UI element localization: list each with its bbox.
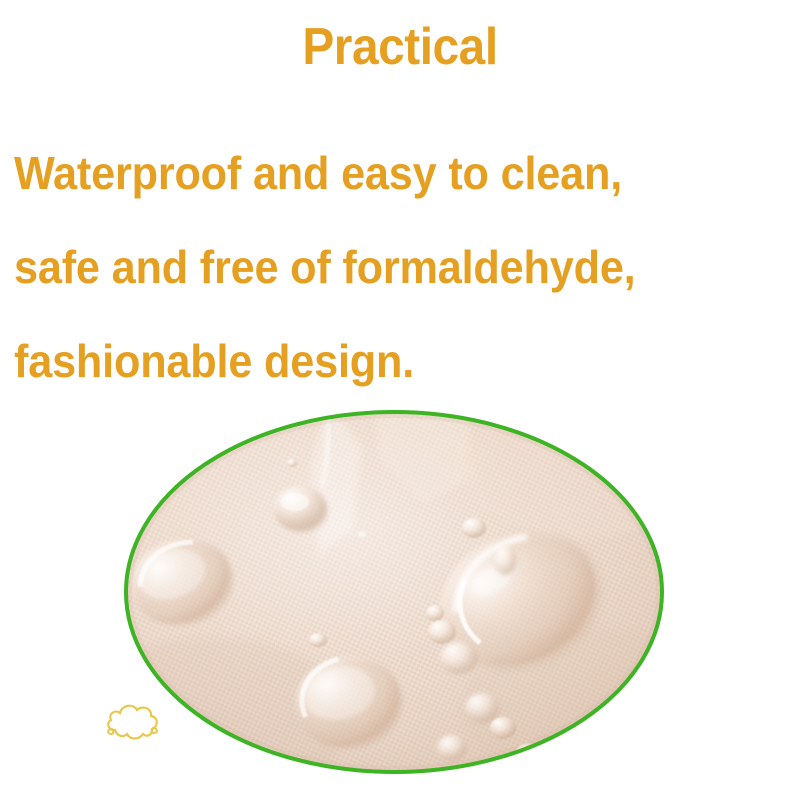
description-line-1: Waterproof and easy to clean, bbox=[14, 126, 757, 220]
fabric-photo-svg bbox=[122, 408, 666, 776]
description-line-2: safe and free of formaldehyde, bbox=[14, 220, 757, 314]
description-block: Waterproof and easy to clean, safe and f… bbox=[14, 126, 800, 408]
cloud-icon bbox=[103, 700, 161, 746]
description-line-3: fashionable design. bbox=[14, 314, 757, 408]
product-photo-oval bbox=[122, 408, 666, 776]
poster-canvas: Practical Waterproof and easy to clean, … bbox=[0, 0, 800, 800]
page-title: Practical bbox=[32, 18, 768, 76]
